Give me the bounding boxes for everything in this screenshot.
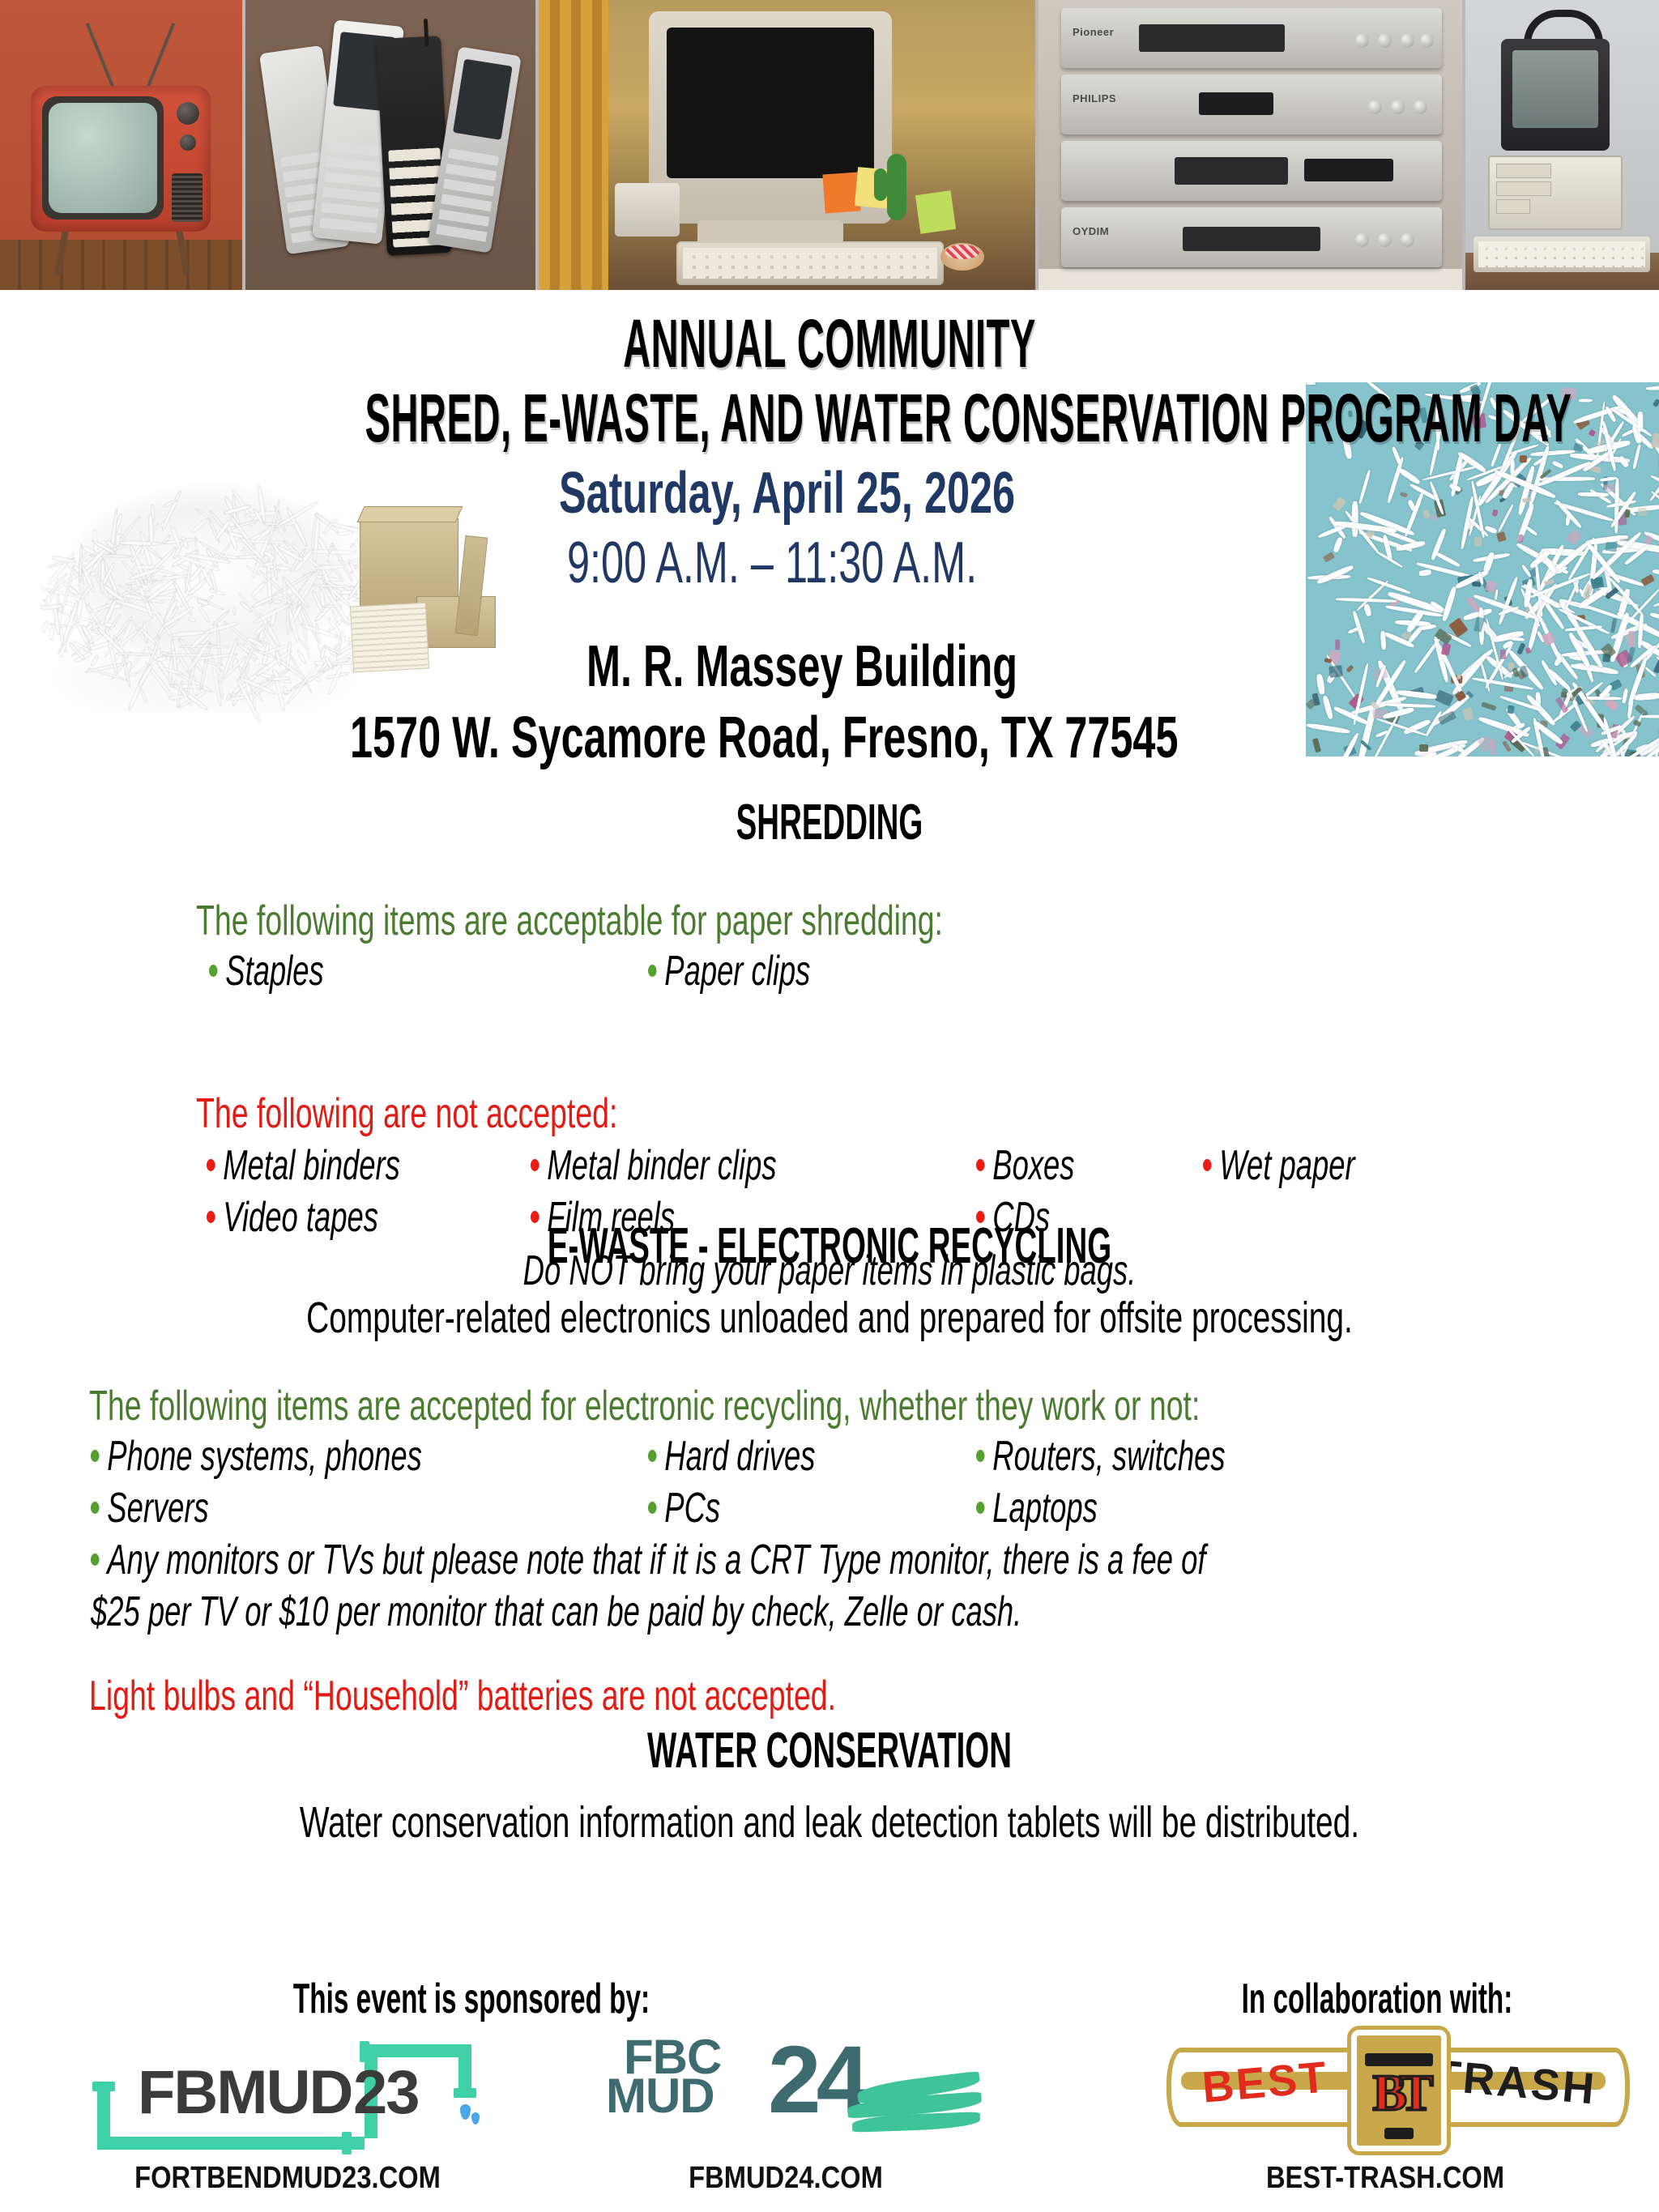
cardboard-file-boxes (331, 518, 501, 680)
paper-strand (153, 596, 173, 600)
tv-knob-upper (177, 102, 199, 125)
pc-tower (1488, 156, 1623, 230)
cd-player: OYDIM (1061, 207, 1442, 267)
list-item-rejected-2: Boxes (976, 1141, 1074, 1190)
curtain-decor (539, 0, 608, 290)
sponsor-logos: FBMUD 23 FORTBENDMUD23.COM FBC MUD 24 FB… (0, 2038, 1659, 2212)
paper-strand (315, 622, 322, 653)
computer-keyboard (676, 241, 944, 285)
sponsored-by-label: This event is sponsored by: (290, 1975, 653, 2023)
old-cell-phones-photo (245, 0, 539, 290)
paper-chip (1456, 674, 1461, 680)
tv-screen (49, 103, 157, 213)
crt-screen (667, 28, 874, 178)
list-item-monitor-fee: Any monitors or TVs but please note that… (91, 1536, 1205, 1584)
best-trash-logo[interactable]: BEST TRASH BT (1166, 2025, 1620, 2146)
small-crt-monitor (1501, 39, 1610, 151)
philips-dvd-player: PHILIPS (1061, 75, 1442, 134)
paper-strand (273, 599, 282, 603)
paper-chip (1566, 529, 1583, 546)
bullet-dot-green (91, 1554, 100, 1566)
paper-chip (1440, 643, 1450, 655)
tv-antenna-left (86, 23, 117, 93)
paper-stack (350, 603, 429, 673)
paper-strand (1358, 470, 1371, 505)
paper-chip (1500, 650, 1506, 659)
trash-can-foot (1384, 2128, 1414, 2139)
vintage-pc-tower-photo (1465, 0, 1659, 290)
bullet-dot-red (976, 1159, 985, 1171)
paper-chip (1324, 658, 1332, 664)
sticky-note-green (915, 190, 956, 234)
paper-strand (190, 518, 208, 534)
water-lead: Water conservation information and leak … (232, 1797, 1427, 1848)
bullet-dot-red (207, 1211, 215, 1223)
paper-strand (238, 592, 262, 620)
paper-chip (1653, 658, 1659, 673)
paper-chip (1605, 542, 1617, 552)
paper-strand (1398, 467, 1422, 485)
paper-strand (1552, 460, 1563, 469)
paper-chip (1493, 509, 1499, 517)
bullet-dot-green (648, 1450, 657, 1462)
desk-phone (615, 183, 680, 237)
paper-chip (1312, 738, 1321, 752)
paper-strand (1622, 688, 1628, 703)
bullet-dot-green (648, 1502, 657, 1514)
retro-television-photo (0, 0, 245, 290)
event-address: 1570 W. Sycamore Road, Fresno, TX 77545 (350, 705, 1178, 771)
pipe-segment (458, 2044, 471, 2095)
paper-strand (1364, 603, 1373, 616)
paper-strand (1336, 597, 1397, 602)
tv-bezel (42, 96, 164, 219)
event-time: 9:00 A.M. – 11:30 A.M. (567, 530, 977, 596)
paper-strand (250, 581, 267, 598)
paper-chip (1518, 535, 1525, 543)
water-heading: WATER CONSERVATION (315, 1722, 1344, 1779)
paper-strand (187, 616, 196, 623)
pioneer-player: Pioneer (1061, 8, 1442, 68)
paper-strand (1384, 703, 1435, 708)
pipe-segment (97, 2137, 365, 2150)
paper-chip (1637, 508, 1647, 516)
dvd-recorder (1061, 141, 1442, 201)
pipe-segment (365, 2044, 471, 2057)
collaboration-label: In collaboration with: (1211, 1975, 1543, 2023)
list-item-ewaste-5: Laptops (976, 1484, 1098, 1532)
shredded-paper-and-boxes-photo (8, 444, 510, 744)
list-item-ewaste-4: PCs (648, 1484, 720, 1532)
paper-strand (90, 655, 99, 667)
paper-strand (49, 627, 54, 641)
best-trash-url[interactable]: BEST-TRASH.COM (1169, 2161, 1601, 2196)
paper-strand (1323, 695, 1334, 719)
bullet-dot-red (1203, 1159, 1212, 1171)
paper-chip (1602, 654, 1610, 663)
paper-chip (1628, 631, 1635, 647)
fbcmud24-logo[interactable]: FBC MUD 24 (599, 2033, 980, 2146)
paper-strand (233, 607, 237, 616)
floor-decor (0, 240, 242, 290)
bullet-dot-green (976, 1450, 985, 1462)
bullet-dot-green (91, 1502, 100, 1514)
bt-monogram: BT (1372, 2063, 1425, 2123)
list-item-ewaste-3: Servers (91, 1484, 209, 1532)
donut-pastry (940, 243, 984, 271)
pipe-joint (454, 2088, 476, 2098)
shelf-decor (1038, 269, 1462, 290)
paper-strand (296, 650, 307, 665)
water-drop-icon (471, 2112, 480, 2125)
bullet-dot-green (976, 1502, 985, 1514)
list-item-rejected-0: Metal binders (207, 1141, 400, 1190)
paper-chip (1435, 689, 1454, 706)
header-photo-strip: Pioneer PHILIPS OYDIM (0, 0, 1659, 290)
tv-knob-lower (180, 134, 196, 151)
paper-chip (1346, 664, 1354, 672)
old-desktop-computer-photo (539, 0, 1038, 290)
flyer-title: ANNUAL COMMUNITY SHRED, E-WASTE, AND WAT… (0, 309, 1659, 453)
paper-strand (1599, 475, 1616, 481)
paper-strand (1441, 586, 1457, 622)
paper-strand (1510, 637, 1525, 641)
paper-strand (1498, 577, 1520, 625)
paper-strand (87, 667, 127, 681)
paper-chip (1419, 744, 1428, 752)
paper-strand (1578, 492, 1609, 496)
paper-chip (1328, 665, 1343, 678)
fbmud23-wordmark: FBMUD (138, 2057, 352, 2128)
title-line-2: SHRED, E-WASTE, AND WATER CONSERVATION P… (365, 384, 1294, 454)
paper-strand (41, 620, 49, 633)
pipe-joint (342, 2132, 352, 2154)
mud-wordmark: MUD (606, 2075, 714, 2118)
paper-strand (1433, 551, 1461, 568)
paper-chip (1423, 509, 1431, 518)
paper-strand (1497, 503, 1513, 531)
paper-chip (1640, 574, 1654, 586)
water-drop-icon (460, 2104, 471, 2120)
paper-chip (1610, 679, 1623, 691)
title-line-1: ANNUAL COMMUNITY (365, 309, 1294, 379)
event-date: Saturday, April 25, 2026 (559, 460, 1015, 526)
fbmud23-logo[interactable]: FBMUD 23 (78, 2038, 499, 2143)
bullet-dot-red (207, 1159, 215, 1171)
list-item-ewaste-2: Routers, switches (976, 1432, 1226, 1481)
shredding-heading: SHREDDING (315, 794, 1344, 851)
paper-strand (1634, 692, 1659, 701)
fbmud23-number: 23 (353, 2057, 419, 2128)
tv-antenna-right (144, 23, 175, 93)
pc-keyboard (1473, 237, 1650, 272)
event-venue: M. R. Massey Building (586, 633, 1017, 700)
fbmud23-url[interactable]: FORTBENDMUD23.COM (82, 2161, 493, 2196)
paper-chip (1481, 701, 1495, 710)
fbmud24-url[interactable]: FBMUD24.COM (598, 2161, 974, 2196)
list-item-ewaste-1: Hard drives (648, 1432, 815, 1481)
small-crt-screen (1512, 50, 1598, 128)
paper-strand (313, 676, 322, 682)
paper-chip (1322, 552, 1334, 563)
list-item-rejected-3: Wet paper (1203, 1141, 1355, 1190)
tv-speaker-grill (172, 173, 203, 222)
paper-chip (1474, 537, 1482, 547)
paper-chip (1335, 640, 1340, 650)
paper-strand (161, 490, 182, 531)
paper-strand (1494, 590, 1498, 600)
paper-strand (128, 671, 137, 677)
paper-strand (156, 656, 168, 662)
paper-strand (314, 661, 324, 665)
bullet-dot-green (91, 1450, 100, 1462)
ewaste-rejected-note: Light bulbs and “Household” batteries ar… (89, 1672, 836, 1720)
paper-strand (163, 653, 213, 656)
paper-strand (1316, 673, 1326, 694)
paper-strand (1333, 537, 1343, 554)
paper-chip (1519, 455, 1526, 462)
cactus-plant (887, 154, 906, 220)
paper-chip (1610, 618, 1617, 633)
ewaste-heading: E-WASTE - ELECTRONIC RECYCLING (315, 1217, 1344, 1275)
list-item-ewaste-0: Phone systems, phones (91, 1432, 422, 1481)
paper-chip (1462, 707, 1474, 721)
bullet-dot-red (531, 1159, 539, 1171)
flyer-body: SHREDDING The following items are accept… (0, 794, 1659, 1848)
paper-chip (1496, 531, 1506, 542)
monitor-fee-line2: $25 per TV or $10 per monitor that can b… (91, 1588, 1021, 1636)
paper-strand (1649, 612, 1659, 620)
ewaste-lead: Computer-related electronics unloaded an… (232, 1293, 1427, 1343)
paper-strand (1418, 569, 1431, 577)
list-item-rejected-1: Metal binder clips (531, 1141, 777, 1190)
paper-strand (1307, 722, 1350, 735)
av-components-stack-photo: Pioneer PHILIPS OYDIM (1038, 0, 1465, 290)
paper-chip (1333, 497, 1346, 511)
pipe-joint (92, 2082, 115, 2091)
tv-body (31, 86, 211, 232)
paper-strand (1640, 714, 1659, 718)
trash-can-icon: BT (1351, 2030, 1447, 2151)
paper-chip (1400, 492, 1408, 498)
paper-strand (198, 607, 211, 624)
